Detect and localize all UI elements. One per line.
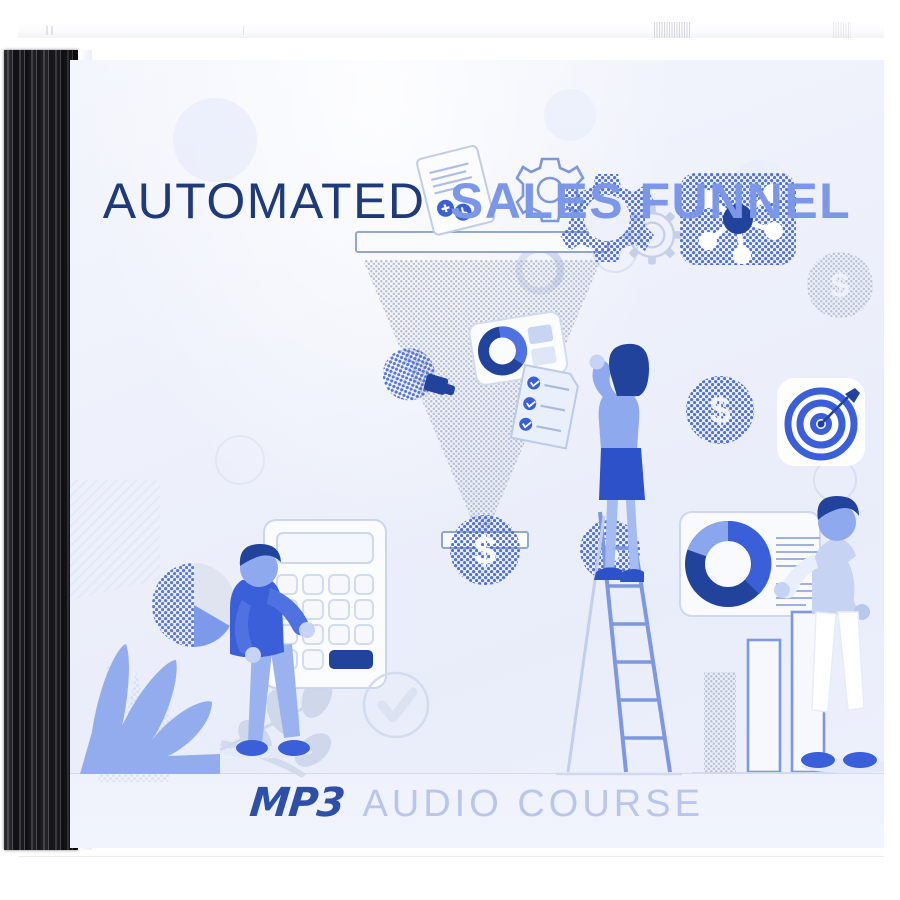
dollar-coin-icon: $	[686, 376, 754, 444]
footer-label: MP3 AUDIO COURSE	[70, 780, 884, 826]
svg-text:$: $	[474, 529, 496, 573]
edge-tick	[46, 26, 48, 35]
edge-ridge-group	[654, 22, 690, 38]
hand-down	[245, 647, 261, 663]
case-spine-hinge	[4, 50, 78, 850]
case-top-edge	[18, 22, 884, 38]
hand-up	[299, 622, 315, 638]
decor-circle-outline	[216, 436, 264, 484]
check-circle-icon	[364, 673, 428, 737]
page-title: AUTOMATED SALES FUNNEL	[70, 172, 884, 230]
calculator-display	[277, 533, 373, 563]
bar-1	[704, 672, 736, 772]
calculator-equals-key	[329, 650, 373, 669]
mp3-brand-logo: MP3	[248, 780, 347, 826]
title-word-automated: AUTOMATED	[103, 173, 426, 229]
torso	[599, 394, 640, 450]
svg-text:$: $	[831, 267, 850, 305]
dollar-coin-icon: $	[807, 252, 873, 318]
decor-circle	[173, 98, 257, 182]
screenshot-canvas: $	[0, 0, 900, 900]
cd-jewel-case: $	[0, 22, 900, 867]
dollar-coin-icon: $	[450, 515, 520, 585]
shoe-front	[278, 740, 310, 756]
audio-course-text: AUDIO COURSE	[362, 783, 703, 825]
spine-highlight	[4, 50, 78, 850]
decor-circle	[544, 89, 596, 141]
decor-diagonal-stripes	[70, 480, 160, 600]
edge-tick	[243, 26, 244, 35]
head	[613, 345, 643, 375]
edge-ridge-group	[833, 22, 851, 38]
shoe-left	[801, 752, 835, 768]
title-word-sales-funnel: SALES FUNNEL	[450, 173, 851, 229]
shoe-right	[843, 752, 877, 768]
leg-right	[838, 612, 864, 710]
skirt	[599, 448, 645, 500]
target-dartboard-icon	[777, 378, 865, 466]
album-cover-artwork: $	[70, 60, 884, 848]
pie-chart-icon	[152, 563, 236, 647]
plant-spiky	[80, 644, 220, 774]
bar-2	[748, 640, 780, 772]
svg-text:$: $	[709, 390, 730, 432]
hand	[774, 582, 790, 598]
hand-left	[590, 355, 605, 370]
torso	[812, 540, 858, 616]
shoe-back	[236, 740, 268, 756]
edge-tick	[51, 26, 53, 35]
leg-left	[812, 612, 836, 712]
